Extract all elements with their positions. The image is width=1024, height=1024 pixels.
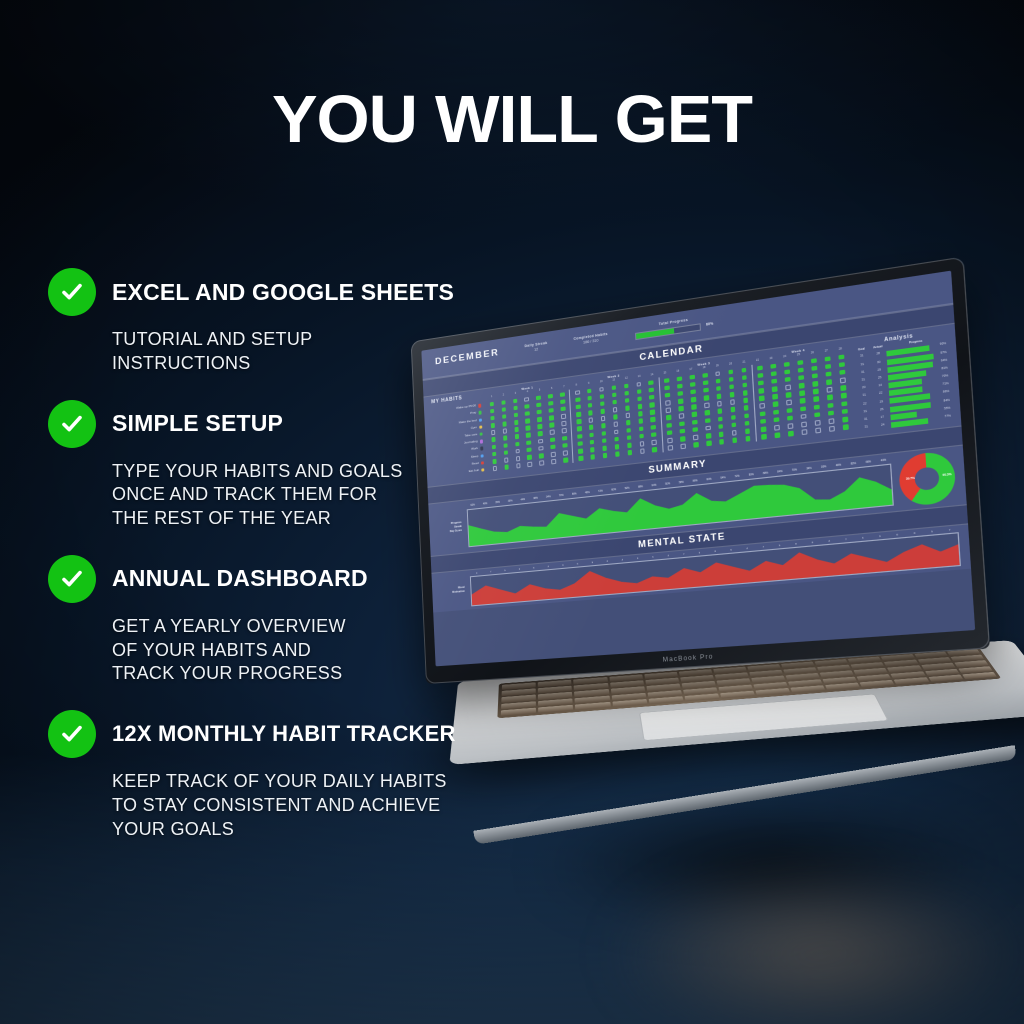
- habit-checkbox[interactable]: [690, 389, 695, 394]
- habit-checkbox[interactable]: [691, 404, 696, 409]
- habit-checkbox[interactable]: [715, 371, 720, 377]
- habit-checkbox[interactable]: [841, 401, 847, 407]
- habit-day-cell[interactable]: [715, 437, 728, 446]
- analysis-goal: 31: [858, 426, 875, 431]
- habit-checkbox[interactable]: [785, 369, 790, 375]
- habit-checkbox[interactable]: [612, 392, 617, 397]
- habit-checkbox[interactable]: [678, 406, 683, 411]
- habit-checkbox[interactable]: [666, 408, 671, 413]
- habit-checkbox[interactable]: [825, 364, 831, 370]
- habit-checkbox[interactable]: [691, 397, 696, 402]
- habit-checkbox[interactable]: [717, 401, 722, 406]
- habit-checkbox[interactable]: [678, 398, 683, 403]
- feature-description-line: TYPE YOUR HABITS AND GOALS: [112, 460, 568, 484]
- habit-checkbox[interactable]: [760, 403, 765, 409]
- habit-checkbox[interactable]: [801, 422, 807, 428]
- habit-checkbox[interactable]: [772, 386, 777, 392]
- habit-checkbox[interactable]: [814, 404, 820, 410]
- habit-checkbox[interactable]: [811, 365, 817, 371]
- habit-checkbox[interactable]: [638, 426, 643, 431]
- habit-checkbox[interactable]: [614, 444, 619, 449]
- habit-checkbox[interactable]: [802, 429, 808, 435]
- analysis-actual: 14: [872, 384, 889, 389]
- habit-checkbox[interactable]: [678, 391, 683, 396]
- habit-checkbox[interactable]: [787, 415, 792, 421]
- habit-checkbox[interactable]: [651, 425, 656, 430]
- habit-checkbox[interactable]: [624, 391, 629, 396]
- habit-checkbox[interactable]: [706, 433, 711, 438]
- habit-checkbox[interactable]: [667, 423, 672, 428]
- analysis-goal: 31: [858, 418, 875, 423]
- habit-day-cell[interactable]: [574, 454, 587, 463]
- feature-description: KEEP TRACK OF YOUR DAILY HABITS TO STAY …: [112, 770, 568, 841]
- habit-checkbox[interactable]: [827, 395, 833, 401]
- habit-checkbox[interactable]: [627, 443, 632, 448]
- analysis-percent: 77%: [945, 415, 952, 419]
- analysis-progress-bar: [891, 418, 928, 428]
- habit-checkbox[interactable]: [703, 388, 708, 393]
- habit-checkbox[interactable]: [798, 375, 804, 381]
- habit-checkbox[interactable]: [599, 386, 604, 391]
- habit-checkbox[interactable]: [692, 412, 697, 417]
- feature-description-line: ONCE AND TRACK THEM FOR: [112, 483, 568, 507]
- keyboard-key[interactable]: [790, 685, 825, 693]
- donut-completed-label: 60.3%: [943, 474, 952, 478]
- habit-checkbox[interactable]: [587, 395, 592, 400]
- habit-checkbox[interactable]: [638, 411, 643, 416]
- keyboard-key[interactable]: [612, 699, 647, 707]
- habit-checkbox[interactable]: [690, 382, 695, 387]
- habit-checkbox[interactable]: [800, 398, 806, 404]
- habit-checkbox[interactable]: [732, 430, 737, 435]
- habit-checkbox[interactable]: [649, 395, 654, 400]
- habit-checkbox[interactable]: [829, 426, 835, 432]
- feature-title: EXCEL AND GOOGLE SHEETS: [112, 279, 454, 306]
- habit-checkbox[interactable]: [693, 442, 698, 447]
- feature-description-line: GET A YEARLY OVERVIEW: [112, 615, 568, 639]
- habit-checkbox[interactable]: [784, 361, 789, 367]
- habit-checkbox[interactable]: [774, 425, 779, 431]
- habit-checkbox[interactable]: [667, 438, 672, 443]
- analysis-percent: 84%: [944, 399, 951, 403]
- keyboard-key[interactable]: [860, 680, 895, 688]
- habit-checkbox[interactable]: [602, 446, 607, 451]
- feature-description: GET A YEARLY OVERVIEW OF YOUR HABITS AND…: [112, 615, 568, 686]
- analysis-actual: 30: [870, 360, 887, 365]
- habit-checkbox[interactable]: [787, 408, 792, 414]
- stat-total-progress: Total Progress 60%: [634, 315, 713, 340]
- habit-checkbox[interactable]: [815, 428, 821, 434]
- habit-checkbox[interactable]: [600, 401, 605, 406]
- habit-checkbox[interactable]: [815, 420, 821, 426]
- analysis-goal: 31: [856, 394, 873, 399]
- habit-checkbox[interactable]: [785, 377, 790, 383]
- habit-checkbox[interactable]: [679, 414, 684, 419]
- habit-checkbox[interactable]: [664, 385, 669, 390]
- analysis-percent: 86%: [943, 391, 950, 395]
- habit-checkbox[interactable]: [590, 440, 595, 445]
- keyboard-key[interactable]: [962, 672, 997, 680]
- habit-checkbox[interactable]: [772, 379, 777, 385]
- habit-checkbox[interactable]: [664, 378, 669, 383]
- habit-checkbox[interactable]: [588, 403, 593, 408]
- keyboard-key[interactable]: [825, 683, 860, 691]
- habit-checkbox[interactable]: [668, 445, 673, 450]
- habit-checkbox[interactable]: [575, 397, 580, 402]
- habit-checkbox[interactable]: [825, 356, 831, 362]
- habit-checkbox[interactable]: [719, 439, 724, 444]
- habit-checkbox[interactable]: [599, 394, 604, 399]
- habit-checkbox[interactable]: [680, 436, 685, 441]
- habit-checkbox[interactable]: [775, 432, 780, 438]
- habit-checkbox[interactable]: [728, 369, 733, 375]
- completion-donut-chart: 39.7% 60.3%: [898, 450, 957, 507]
- feature-item-annual-dashboard: ANNUAL DASHBOARD GET A YEARLY OVERVIEW O…: [48, 555, 568, 686]
- habit-checkbox[interactable]: [759, 388, 764, 394]
- habit-checkbox[interactable]: [601, 423, 606, 428]
- habit-checkbox[interactable]: [799, 391, 805, 397]
- habit-day-cell[interactable]: [771, 431, 785, 440]
- habit-checkbox[interactable]: [813, 397, 819, 403]
- habit-checkbox[interactable]: [613, 414, 618, 419]
- habit-checkbox[interactable]: [771, 371, 776, 377]
- habit-checkbox[interactable]: [704, 395, 709, 400]
- habit-day-cell[interactable]: [741, 434, 755, 443]
- habit-checkbox[interactable]: [677, 376, 682, 381]
- feature-description-line: OF YOUR HABITS AND: [112, 639, 568, 663]
- habit-checkbox[interactable]: [814, 412, 820, 418]
- habit-checkbox[interactable]: [614, 437, 619, 442]
- habit-checkbox[interactable]: [577, 426, 582, 431]
- habit-checkbox[interactable]: [838, 354, 844, 360]
- habit-checkbox[interactable]: [730, 407, 735, 412]
- check-circle-icon: [48, 400, 96, 448]
- habit-checkbox[interactable]: [652, 447, 657, 452]
- habit-checkbox[interactable]: [742, 375, 747, 381]
- habit-checkbox[interactable]: [731, 422, 736, 427]
- analysis-percent: 71%: [942, 383, 949, 387]
- habit-checkbox[interactable]: [650, 410, 655, 415]
- habit-checkbox[interactable]: [588, 418, 593, 423]
- habit-checkbox[interactable]: [840, 377, 846, 383]
- habit-checkbox[interactable]: [626, 435, 631, 440]
- habit-day-cell[interactable]: [587, 453, 600, 462]
- habit-checkbox[interactable]: [773, 409, 778, 415]
- habit-checkbox[interactable]: [800, 406, 806, 412]
- habit-checkbox[interactable]: [624, 398, 629, 403]
- habit-checkbox[interactable]: [731, 415, 736, 420]
- habit-checkbox[interactable]: [680, 429, 685, 434]
- check-circle-icon: [48, 555, 96, 603]
- habit-checkbox[interactable]: [812, 373, 818, 379]
- analysis-actual: 17: [874, 416, 891, 421]
- feature-description: TYPE YOUR HABITS AND GOALS ONCE AND TRAC…: [112, 460, 568, 531]
- habit-day-cell[interactable]: [636, 447, 649, 456]
- habit-checkbox[interactable]: [587, 388, 592, 393]
- habit-day-cell[interactable]: [811, 426, 825, 435]
- habit-checkbox[interactable]: [578, 456, 583, 461]
- habit-checkbox[interactable]: [761, 426, 766, 432]
- habit-checkbox[interactable]: [637, 396, 642, 401]
- habit-checkbox[interactable]: [614, 429, 619, 434]
- habit-day-cell[interactable]: [728, 436, 742, 445]
- habit-checkbox[interactable]: [680, 444, 685, 449]
- habit-day-cell[interactable]: [676, 442, 689, 451]
- habit-checkbox[interactable]: [719, 431, 724, 436]
- habit-checkbox[interactable]: [590, 447, 595, 452]
- habit-checkbox[interactable]: [693, 435, 698, 440]
- habit-checkbox[interactable]: [842, 417, 848, 423]
- analysis-goal: 20: [856, 386, 873, 391]
- habit-checkbox[interactable]: [729, 384, 734, 390]
- habit-checkbox[interactable]: [705, 425, 710, 430]
- habit-checkbox[interactable]: [774, 417, 779, 423]
- habit-checkbox[interactable]: [771, 363, 776, 369]
- habit-checkbox[interactable]: [741, 367, 746, 373]
- feature-item-excel-and-google-sheets: EXCEL AND GOOGLE SHEETS TUTORIAL AND SET…: [48, 268, 568, 376]
- habit-checkbox[interactable]: [742, 382, 747, 388]
- analysis-goal: 31: [857, 410, 874, 415]
- habit-checkbox[interactable]: [704, 403, 709, 408]
- habit-checkbox[interactable]: [788, 431, 793, 437]
- habit-checkbox[interactable]: [705, 418, 710, 423]
- habit-checkbox[interactable]: [826, 371, 832, 377]
- analysis-percent: 94%: [941, 359, 948, 363]
- habit-checkbox[interactable]: [577, 434, 582, 439]
- keyboard-key[interactable]: [755, 688, 790, 696]
- habit-checkbox[interactable]: [689, 374, 694, 379]
- habit-checkbox[interactable]: [639, 441, 644, 446]
- habit-checkbox[interactable]: [841, 393, 847, 399]
- habit-checkbox[interactable]: [640, 449, 645, 454]
- habit-checkbox[interactable]: [650, 402, 655, 407]
- habit-checkbox[interactable]: [706, 441, 711, 446]
- analysis-percent: 81%: [941, 367, 948, 371]
- habit-checkbox[interactable]: [649, 387, 654, 392]
- habit-checkbox[interactable]: [613, 422, 618, 427]
- habit-checkbox[interactable]: [679, 421, 684, 426]
- habit-checkbox[interactable]: [638, 419, 643, 424]
- habit-checkbox[interactable]: [588, 410, 593, 415]
- habit-checkbox[interactable]: [842, 409, 848, 415]
- habit-checkbox[interactable]: [840, 385, 846, 391]
- habit-day-cell[interactable]: [702, 439, 715, 448]
- feature-description-line: INSTRUCTIONS: [112, 352, 568, 376]
- habit-checkbox[interactable]: [744, 413, 749, 419]
- habit-checkbox[interactable]: [615, 451, 620, 456]
- habit-checkbox[interactable]: [743, 405, 748, 411]
- habit-checkbox[interactable]: [732, 438, 737, 443]
- keyboard-key[interactable]: [575, 702, 610, 710]
- feature-description: TUTORIAL AND SETUP INSTRUCTIONS: [112, 328, 568, 376]
- habit-checkbox[interactable]: [692, 427, 697, 432]
- habit-checkbox[interactable]: [626, 420, 631, 425]
- habit-checkbox[interactable]: [637, 404, 642, 409]
- habit-checkbox[interactable]: [760, 411, 765, 417]
- habit-checkbox[interactable]: [718, 424, 723, 429]
- habit-checkbox[interactable]: [761, 419, 766, 425]
- analysis-goal: 22: [857, 402, 874, 407]
- habit-checkbox[interactable]: [665, 400, 670, 405]
- habit-checkbox[interactable]: [603, 453, 608, 458]
- analysis-panel: Analysis Goal Actual Progress 312890%313…: [853, 330, 952, 433]
- habit-checkbox[interactable]: [729, 392, 734, 398]
- analysis-actual: 29: [871, 368, 888, 373]
- habit-checkbox[interactable]: [743, 398, 748, 404]
- feature-description-line: TUTORIAL AND SETUP: [112, 328, 568, 352]
- habit-checkbox[interactable]: [636, 389, 641, 394]
- habit-day-cell[interactable]: [611, 450, 624, 459]
- habit-checkbox[interactable]: [812, 381, 818, 387]
- habit-checkbox[interactable]: [576, 412, 581, 417]
- habit-checkbox[interactable]: [625, 405, 630, 410]
- habit-checkbox[interactable]: [799, 383, 805, 389]
- feature-list: EXCEL AND GOOGLE SHEETS TUTORIAL AND SET…: [48, 268, 568, 865]
- habit-checkbox[interactable]: [639, 434, 644, 439]
- habit-checkbox[interactable]: [744, 421, 749, 427]
- progress-percent: 60%: [706, 323, 714, 328]
- habit-checkbox[interactable]: [758, 373, 763, 379]
- habit-checkbox[interactable]: [600, 409, 605, 414]
- habit-checkbox[interactable]: [801, 414, 807, 420]
- check-circle-icon: [48, 710, 96, 758]
- habit-checkbox[interactable]: [839, 362, 845, 368]
- habit-day-cell[interactable]: [757, 432, 771, 441]
- habit-checkbox[interactable]: [624, 383, 629, 388]
- habit-checkbox[interactable]: [717, 409, 722, 414]
- habit-checkbox[interactable]: [651, 417, 656, 422]
- habit-checkbox[interactable]: [762, 434, 767, 440]
- analysis-actual: 24: [874, 424, 891, 429]
- check-circle-icon: [48, 268, 96, 316]
- stat-completed-habits: Completed Habits 186 / 310: [573, 333, 608, 348]
- habit-checkbox[interactable]: [590, 454, 595, 459]
- habit-day-cell[interactable]: [797, 427, 811, 436]
- habit-checkbox[interactable]: [745, 436, 750, 441]
- habit-day-cell[interactable]: [648, 445, 661, 454]
- habit-checkbox[interactable]: [839, 370, 845, 376]
- keyboard-key[interactable]: [720, 691, 755, 699]
- analysis-percent: 97%: [940, 351, 947, 355]
- analysis-goal: 31: [855, 378, 872, 383]
- habit-checkbox[interactable]: [827, 403, 833, 409]
- habit-checkbox[interactable]: [702, 372, 707, 377]
- habit-checkbox[interactable]: [667, 430, 672, 435]
- habit-checkbox[interactable]: [636, 381, 641, 386]
- habit-checkbox[interactable]: [743, 390, 748, 396]
- habit-checkbox[interactable]: [601, 431, 606, 436]
- habit-checkbox[interactable]: [786, 400, 791, 406]
- habit-day-cell[interactable]: [784, 429, 798, 438]
- habit-checkbox[interactable]: [828, 410, 834, 416]
- habit-checkbox[interactable]: [625, 413, 630, 418]
- habit-day-cell[interactable]: [664, 443, 677, 452]
- habit-day-cell[interactable]: [689, 440, 702, 449]
- feature-item-simple-setup: SIMPLE SETUP TYPE YOUR HABITS AND GOALS …: [48, 400, 568, 531]
- habit-checkbox[interactable]: [627, 450, 632, 455]
- habit-checkbox[interactable]: [797, 360, 802, 366]
- habit-checkbox[interactable]: [602, 438, 607, 443]
- habit-checkbox[interactable]: [626, 428, 631, 433]
- analysis-goal: 31: [854, 363, 871, 368]
- feature-description-line: TO STAY CONSISTENT AND ACHIEVE: [112, 794, 568, 818]
- habit-day-cell[interactable]: [838, 422, 852, 431]
- habit-checkbox[interactable]: [665, 393, 670, 398]
- habit-checkbox[interactable]: [692, 419, 697, 424]
- habit-checkbox[interactable]: [578, 448, 583, 453]
- habit-checkbox[interactable]: [718, 416, 723, 421]
- habit-checkbox[interactable]: [575, 390, 580, 395]
- keyboard-key[interactable]: [684, 694, 719, 702]
- page-title: YOU WILL GET: [0, 86, 1024, 153]
- keyboard-key[interactable]: [894, 677, 929, 685]
- feature-description-line: KEEP TRACK OF YOUR DAILY HABITS: [112, 770, 568, 794]
- habit-checkbox[interactable]: [612, 400, 617, 405]
- habit-checkbox[interactable]: [759, 396, 764, 402]
- habit-checkbox[interactable]: [785, 385, 790, 391]
- habit-checkbox[interactable]: [773, 394, 778, 400]
- habit-checkbox[interactable]: [703, 380, 708, 385]
- habit-checkbox[interactable]: [730, 399, 735, 405]
- habit-checkbox[interactable]: [611, 385, 616, 390]
- habit-checkbox[interactable]: [666, 415, 671, 420]
- habit-checkbox[interactable]: [589, 432, 594, 437]
- habit-checkbox[interactable]: [826, 379, 832, 385]
- habit-checkbox[interactable]: [704, 410, 709, 415]
- analysis-actual: 22: [872, 392, 889, 397]
- habit-checkbox[interactable]: [601, 416, 606, 421]
- analysis-percent: 90%: [940, 343, 947, 347]
- habit-checkbox[interactable]: [576, 404, 581, 409]
- habit-checkbox[interactable]: [613, 407, 618, 412]
- habit-checkbox[interactable]: [813, 389, 819, 395]
- habit-checkbox[interactable]: [716, 378, 721, 384]
- habit-day-cell[interactable]: [623, 448, 636, 457]
- habit-checkbox[interactable]: [649, 380, 654, 385]
- habit-checkbox[interactable]: [716, 386, 721, 391]
- analysis-goal: 31: [855, 370, 872, 375]
- habit-day-cell[interactable]: [825, 424, 839, 433]
- habit-checkbox[interactable]: [576, 419, 581, 424]
- habit-checkbox[interactable]: [729, 377, 734, 383]
- habit-checkbox[interactable]: [589, 425, 594, 430]
- habit-day-cell[interactable]: [599, 451, 612, 460]
- analysis-actual: 25: [871, 376, 888, 381]
- habit-checkbox[interactable]: [828, 418, 834, 424]
- habit-checkbox[interactable]: [652, 440, 657, 445]
- habit-checkbox[interactable]: [757, 365, 762, 371]
- habit-checkbox[interactable]: [827, 387, 833, 393]
- keyboard-key[interactable]: [648, 696, 683, 704]
- habit-checkbox[interactable]: [788, 423, 793, 429]
- feature-description-line: TRACK YOUR PROGRESS: [112, 662, 568, 686]
- habit-checkbox[interactable]: [811, 358, 817, 364]
- habit-checkbox[interactable]: [773, 402, 778, 408]
- habit-checkbox[interactable]: [758, 380, 763, 386]
- habit-checkbox[interactable]: [677, 383, 682, 388]
- feature-title: SIMPLE SETUP: [112, 410, 283, 437]
- habit-checkbox[interactable]: [716, 393, 721, 398]
- analysis-actual: 28: [870, 353, 887, 358]
- habit-checkbox[interactable]: [786, 392, 791, 398]
- feature-item-monthly-habit-tracker: 12X MONTHLY HABIT TRACKER KEEP TRACK OF …: [48, 710, 568, 841]
- habit-checkbox[interactable]: [651, 432, 656, 437]
- habit-checkbox[interactable]: [798, 367, 803, 373]
- habit-checkbox[interactable]: [745, 428, 750, 433]
- keyboard-key[interactable]: [928, 675, 963, 683]
- habit-checkbox[interactable]: [843, 424, 849, 430]
- habit-checkbox[interactable]: [577, 441, 582, 446]
